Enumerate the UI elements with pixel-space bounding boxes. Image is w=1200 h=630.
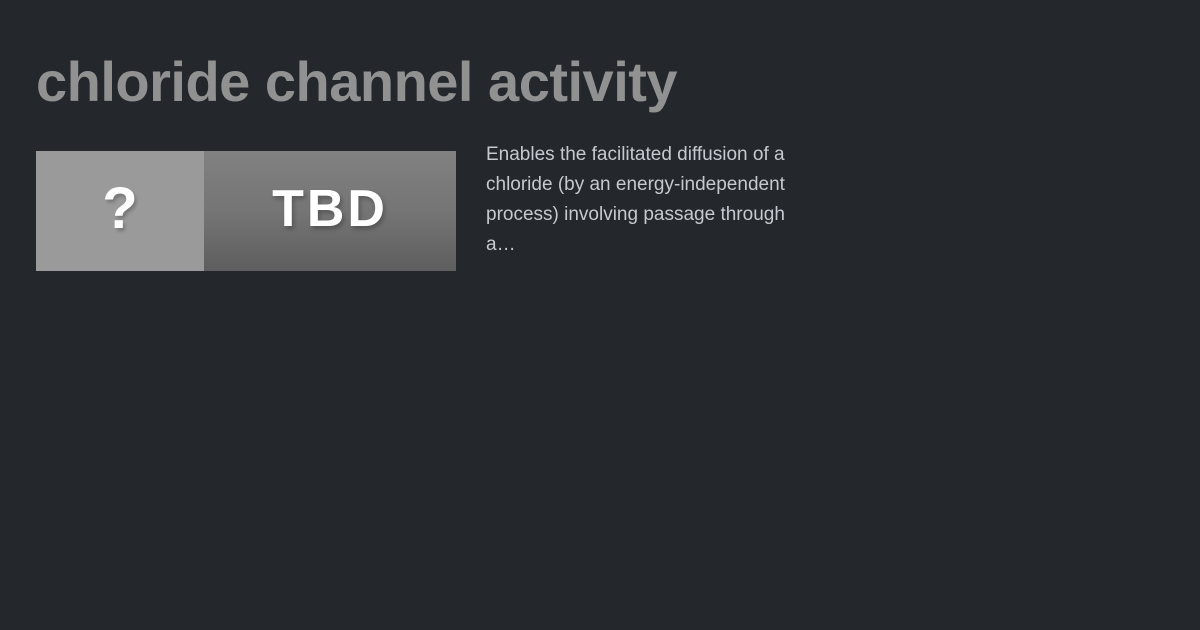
placeholder-panel: ? (36, 151, 204, 271)
status-badge: TBD (272, 183, 388, 235)
page-title: chloride channel activity (36, 48, 677, 116)
question-mark-icon: ? (102, 180, 137, 238)
preview-card[interactable]: ? TBD (36, 151, 456, 271)
status-panel: TBD (204, 151, 456, 271)
page-root: chloride channel activity ? TBD Enables … (0, 0, 1200, 630)
description-text: Enables the facilitated diffusion of a c… (486, 140, 806, 260)
